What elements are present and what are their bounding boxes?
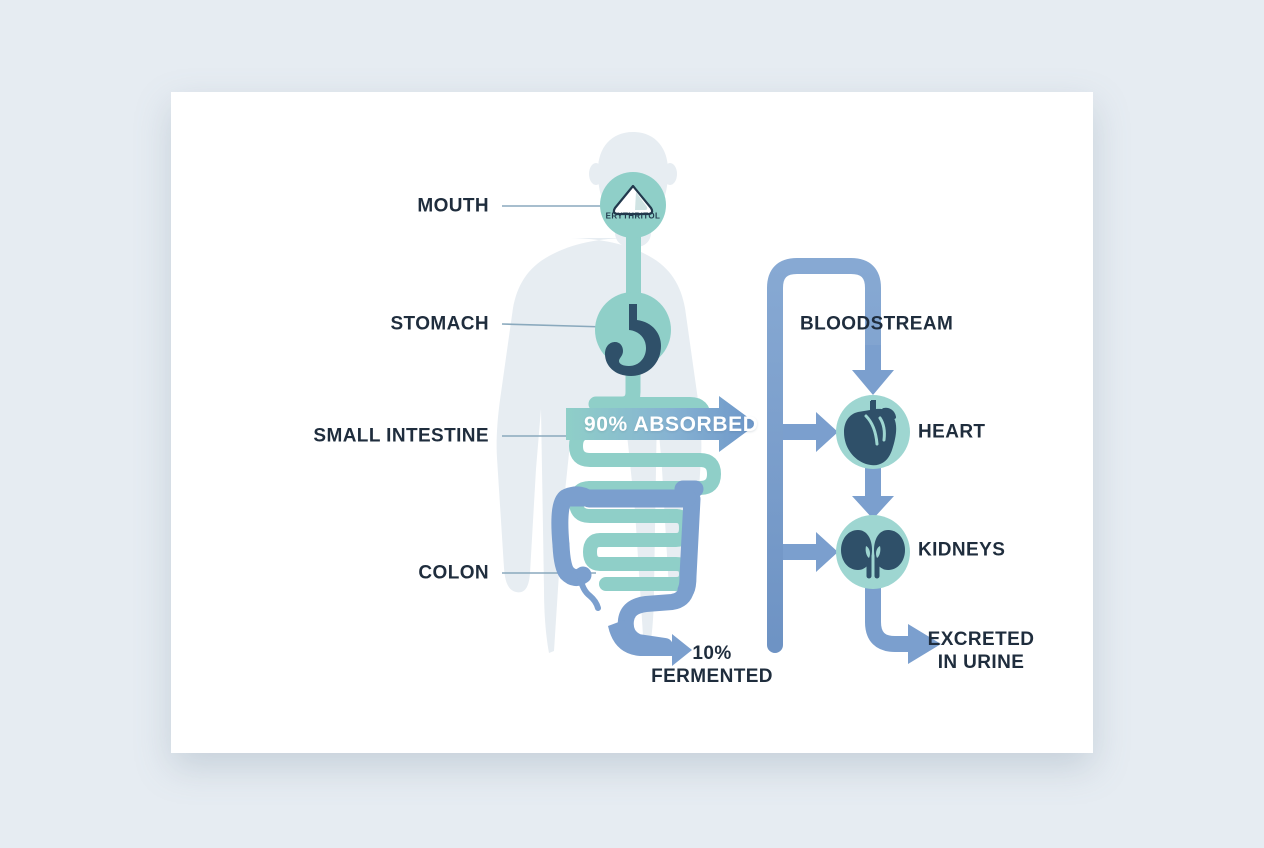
bloodstream-heart-inlet-arrow [783, 412, 838, 452]
label-kidneys: KIDNEYS [918, 539, 1005, 562]
label-stomach: STOMACH [390, 313, 489, 336]
bloodstream-kidney-inlet-arrow [783, 532, 838, 572]
erythritol-caption: ERYTHRITOL [606, 212, 661, 221]
callout-fermented-line1: 10% [651, 642, 773, 665]
callout-fermented-line2: FERMENTED [651, 665, 773, 688]
callout-excreted-line1: EXCRETED [928, 628, 1035, 651]
label-heart: HEART [918, 421, 985, 444]
infographic-canvas: MOUTH STOMACH SMALL INTESTINE COLON BLOO… [0, 0, 1264, 848]
label-mouth: MOUTH [417, 195, 489, 218]
callout-fermented: 10% FERMENTED [651, 642, 773, 688]
kidney-node[interactable] [836, 515, 910, 589]
mouth-node[interactable] [600, 172, 666, 238]
heart-node[interactable] [836, 395, 910, 469]
label-bloodstream: BLOODSTREAM [800, 313, 953, 336]
body-silhouette [497, 132, 702, 653]
label-colon: COLON [418, 562, 489, 585]
callout-excreted-line2: IN URINE [928, 651, 1035, 674]
bloodstream-to-heart-arrow [852, 345, 894, 395]
callout-excreted: EXCRETED IN URINE [928, 628, 1035, 674]
callout-absorbed: 90% ABSORBED [584, 413, 758, 437]
heart-to-kidneys-pipe [852, 466, 894, 519]
label-small-intestine: SMALL INTESTINE [313, 425, 489, 448]
